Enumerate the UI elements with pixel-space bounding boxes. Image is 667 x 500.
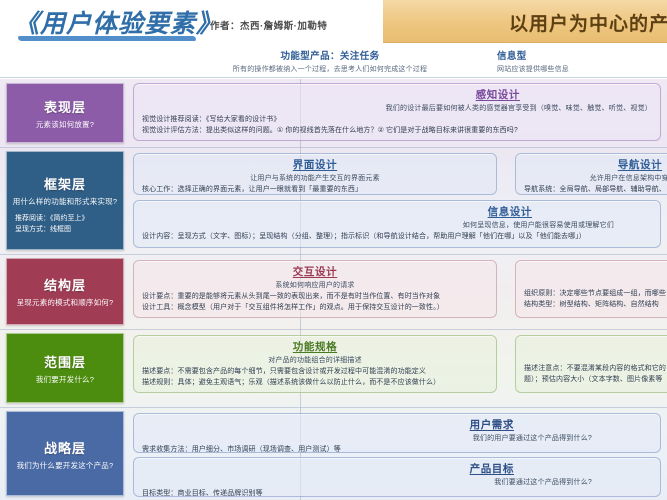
row-divider-3 — [0, 329, 667, 330]
card-line-1: 需求收集方法：用户细分、市场调研（现场调查、用户测试）等 — [142, 445, 652, 456]
card-line-2: 结构类型：树型结构、矩阵结构、自然结构 — [524, 300, 667, 311]
card-title: 感知设计 — [142, 87, 652, 102]
author-credit: 作者：杰西·詹姆斯·加勒特 — [210, 18, 327, 32]
column-header-informational: 信息型 网站应该提供哪些信息 — [497, 48, 667, 74]
card-line-1: 导航系统：全局导航、局部导航、辅助导航、 — [524, 185, 667, 196]
card-title: 用户需求 — [142, 417, 652, 432]
layer-extra-note: 推荐阅读：《简约至上》 呈现方式：线框图 — [11, 214, 89, 235]
layer-question: 我们要开发什么? — [36, 374, 94, 385]
layer-name: 结构层 — [44, 275, 86, 294]
card-subtitle: 如何呈现信息，使用户能很容易使用或理解它们 — [142, 220, 652, 230]
card-product-goal[interactable]: 产品目标 我们要通过这个产品得到什么? 目标类型：商业目标、传递品牌识别等 — [133, 457, 661, 497]
layer-name: 战略层 — [44, 438, 86, 457]
layer-question: 呈现元素的模式和顺序如何? — [17, 297, 114, 308]
layer-name: 框架层 — [44, 174, 86, 193]
layer-chip-strategy[interactable]: 战略层 我们为什么要开发这个产品? — [6, 411, 124, 496]
card-sensory-design[interactable]: 感知设计 我们的设计最后要如何被人类的感觉器官享受到（嗅觉、味觉、触觉、听觉、视… — [133, 83, 661, 141]
card-line-1: 组织原则：决定哪些节点要组成一组，而哪些 — [524, 289, 667, 300]
card-line-2: 描述规则：具体；避免主观语气；乐观（描述系统该做什么以防止什么，而不是不应该做什… — [142, 378, 488, 389]
layer-question: 用什么样的功能和形式来实现? — [13, 196, 117, 207]
card-line-1: 设计要点：重要的是能够将元素从头到尾一致的表现出来，而不是有时当作位置、有时当作… — [142, 292, 488, 303]
column-title: 功能型产品：关注任务 — [180, 48, 480, 62]
card-subtitle: 允许用户在信息架构中穿行，告 — [524, 173, 667, 183]
card-line-1: 描述要点：不需要包含产品的每个细节，只需要包含设计或开发过程中可能混淆的功能定义 — [142, 367, 488, 378]
card-line-1: 核心工作：选择正确的界面元素，让用户一眼就看到「最重要的东西」 — [142, 185, 488, 196]
book-title: 《用户体验要素》 — [14, 4, 222, 40]
column-subtitle: 所有的操作都被纳入一个过程，去思考人们如何完成这个过程 — [180, 64, 480, 74]
card-subtitle: 我们要通过这个产品得到什么? — [142, 477, 652, 487]
card-title: 信息设计 — [142, 204, 652, 219]
layer-chip-presentation[interactable]: 表现层 元素该如何放置? — [6, 83, 124, 143]
top-right-banner: 以用户为中心的产 — [383, 0, 667, 43]
layer-chip-skeleton[interactable]: 框架层 用什么样的功能和形式来实现? 推荐阅读：《简约至上》 呈现方式：线框图 — [6, 151, 124, 250]
header-divider — [0, 77, 667, 78]
card-functional-spec[interactable]: 功能规格 对产品的功能组合的详细描述 描述要点：不需要包含产品的每个细节，只需要… — [133, 335, 497, 393]
card-line-2: 设计工具：概念模型（用户对于「交互组件将怎样工作」的观点。用于保持交互设计的一致… — [142, 303, 488, 314]
card-subtitle: 让用户与系统的功能产生交互的界面元素 — [142, 173, 488, 183]
card-interaction-design[interactable]: 交互设计 系统如何响应用户的请求 设计要点：重要的是能够将元素从头到尾一致的表现… — [133, 260, 497, 318]
column-header-functional: 功能型产品：关注任务 所有的操作都被纳入一个过程，去思考人们如何完成这个过程 — [180, 48, 480, 74]
card-navigation-design[interactable]: 导航设计 允许用户在信息架构中穿行，告 导航系统：全局导航、局部导航、辅助导航、 — [515, 153, 667, 195]
card-line-1: 视觉设计推荐阅读：《写给大家看的设计书》 — [142, 115, 652, 126]
card-title: 界面设计 — [142, 157, 488, 172]
column-title: 信息型 — [497, 48, 667, 62]
layer-name: 表现层 — [44, 97, 86, 116]
card-subtitle: 对各种内容 — [524, 352, 667, 362]
card-title: 产品目标 — [142, 461, 652, 476]
layer-chip-structure[interactable]: 结构层 呈现元素的模式和顺序如何? — [6, 258, 124, 325]
slide-canvas: 《用户体验要素》 作者：杰西·詹姆斯·加勒特 以用户为中心的产 功能型产品：关注… — [0, 0, 667, 500]
layer-question: 我们为什么要开发这个产品? — [17, 460, 114, 471]
card-title: 交互设计 — [142, 264, 488, 279]
card-subtitle: 对产品的功能组合的详细描述 — [142, 355, 488, 365]
card-user-needs[interactable]: 用户需求 我们的用户要通过这个产品得到什么? 需求收集方法：用户细分、市场调研（… — [133, 413, 661, 453]
card-line-1: 设计内容：呈现方式（文字、图标）；呈现结构（分组、整理）；指示标识（和导航设计结… — [142, 232, 652, 243]
row-divider-2 — [0, 254, 667, 255]
layer-question: 元素该如何放置? — [36, 119, 94, 130]
card-line-2: 题）；预估内容大小（文本字数、图片像素等 — [524, 375, 667, 386]
diagram-body: 表现层 元素该如何放置? 框架层 用什么样的功能和形式来实现? 推荐阅读：《简约… — [0, 79, 667, 500]
row-divider-1 — [0, 147, 667, 148]
card-line-1: 描述注意点：不要混淆某段内容的格式和它的 — [524, 364, 667, 375]
card-information-architecture[interactable]: 合理安排内容 组织原则：决定哪些节点要组成一组，而哪些 结构类型：树型结构、矩阵… — [515, 260, 667, 318]
row-divider-4 — [0, 407, 667, 408]
card-subtitle: 系统如何响应用户的请求 — [142, 280, 488, 290]
card-title: 导航设计 — [524, 157, 667, 172]
card-line-2: 视觉设计评估方法：提出类似这样的问题。① 你的视线首先落在什么地方？② 它们是对… — [142, 126, 652, 137]
card-information-design[interactable]: 信息设计 如何呈现信息，使用户能很容易使用或理解它们 设计内容：呈现方式（文字、… — [133, 200, 661, 248]
title-underline-decoration — [18, 36, 197, 41]
card-subtitle: 合理安排内容 — [524, 277, 667, 287]
layer-name: 范围层 — [44, 352, 86, 371]
layer-chip-scope[interactable]: 范围层 我们要开发什么? — [6, 333, 124, 403]
column-subtitle: 网站应该提供哪些信息 — [497, 64, 667, 74]
banner-title: 以用户为中心的产 — [509, 9, 667, 36]
card-line-1: 目标类型：商业目标、传递品牌识别等 — [142, 489, 652, 500]
card-subtitle: 我们的用户要通过这个产品得到什么? — [142, 433, 652, 443]
card-subtitle: 我们的设计最后要如何被人类的感觉器官享受到（嗅觉、味觉、触觉、听觉、视觉） — [142, 103, 652, 113]
slide-header: 《用户体验要素》 作者：杰西·詹姆斯·加勒特 以用户为中心的产 — [0, 0, 667, 46]
card-title: 功能规格 — [142, 339, 488, 354]
card-interface-design[interactable]: 界面设计 让用户与系统的功能产生交互的界面元素 核心工作：选择正确的界面元素，让… — [133, 153, 497, 195]
card-content-requirements[interactable]: 对各种内容 描述注意点：不要混淆某段内容的格式和它的 题）；预估内容大小（文本字… — [515, 335, 667, 393]
